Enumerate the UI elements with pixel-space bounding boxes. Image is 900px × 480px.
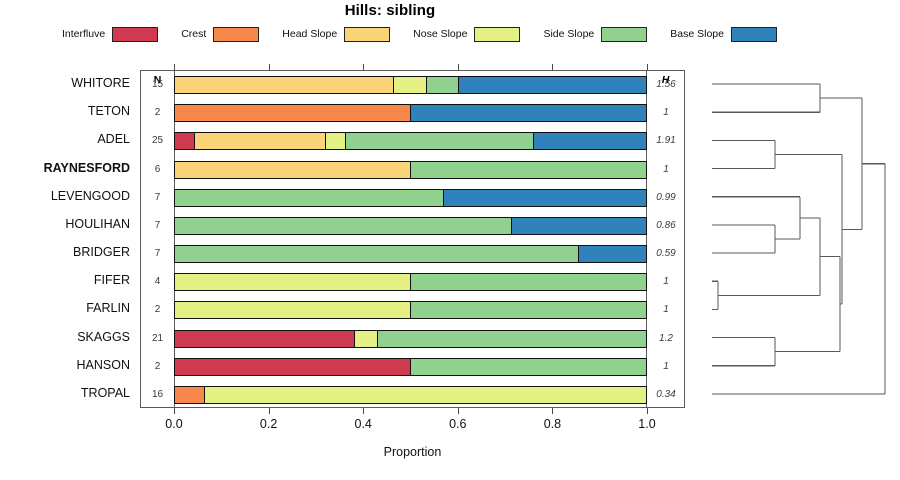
legend-swatch bbox=[344, 27, 390, 42]
x-axis-tick-label: 0.4 bbox=[354, 417, 371, 431]
stacked-bar[interactable] bbox=[174, 104, 647, 122]
h-value: 1 bbox=[648, 304, 684, 315]
bar-rows: 151.5621251.916170.9970.8670.594121211.2… bbox=[141, 71, 684, 407]
bar-row[interactable]: 61 bbox=[141, 156, 684, 184]
x-axis-tick-label: 0.0 bbox=[165, 417, 182, 431]
stacked-bar[interactable] bbox=[174, 189, 647, 207]
y-axis-label-houlihan: HOULIHAN bbox=[0, 218, 130, 230]
h-value: 1.56 bbox=[648, 79, 684, 90]
y-axis-label-bridger: BRIDGER bbox=[0, 246, 130, 258]
h-value: 0.34 bbox=[648, 389, 684, 400]
dendrogram bbox=[690, 68, 900, 410]
n-value: 7 bbox=[141, 220, 174, 231]
bar-row[interactable]: 21 bbox=[141, 99, 684, 127]
legend-item-head-slope[interactable]: Head Slope bbox=[282, 27, 413, 42]
legend-item-interfluve[interactable]: Interfluve bbox=[62, 27, 181, 42]
dendrogram-branches bbox=[712, 84, 885, 394]
n-value: 16 bbox=[141, 389, 174, 400]
x-axis-tick-label: 1.0 bbox=[638, 417, 655, 431]
h-value: 0.59 bbox=[648, 248, 684, 259]
bar-row[interactable]: 41 bbox=[141, 268, 684, 296]
stacked-bar[interactable] bbox=[174, 161, 647, 179]
y-axis-labels: WHITORETETONADELRAYNESFORDLEVENGOODHOULI… bbox=[0, 70, 136, 408]
bar-segment-interfluve[interactable] bbox=[175, 331, 355, 347]
chart-root: Hills: sibling InterfluveCrestHead Slope… bbox=[0, 0, 900, 480]
bar-row[interactable]: 70.99 bbox=[141, 184, 684, 212]
n-value: 7 bbox=[141, 192, 174, 203]
stacked-bar[interactable] bbox=[174, 76, 647, 94]
n-value: 4 bbox=[141, 276, 174, 287]
legend-label: Crest bbox=[181, 28, 206, 40]
chart-title: Hills: sibling bbox=[0, 2, 780, 19]
bar-segment-head-slope[interactable] bbox=[175, 77, 394, 93]
x-axis-tick-label: 0.6 bbox=[449, 417, 466, 431]
x-axis-tick bbox=[174, 408, 175, 414]
y-axis-label-teton: TETON bbox=[0, 105, 130, 117]
bar-segment-base-slope[interactable] bbox=[411, 105, 646, 121]
bar-segment-side-slope[interactable] bbox=[346, 133, 534, 149]
legend-swatch bbox=[112, 27, 158, 42]
bar-row[interactable]: 70.86 bbox=[141, 212, 684, 240]
bar-segment-head-slope[interactable] bbox=[175, 162, 411, 178]
bar-segment-crest[interactable] bbox=[175, 387, 205, 403]
x-axis-tick bbox=[363, 408, 364, 414]
legend-item-nose-slope[interactable]: Nose Slope bbox=[413, 27, 543, 42]
bar-segment-nose-slope[interactable] bbox=[175, 274, 411, 290]
bar-segment-interfluve[interactable] bbox=[175, 133, 195, 149]
legend-swatch bbox=[213, 27, 259, 42]
n-value: 25 bbox=[141, 135, 174, 146]
y-axis-label-hanson: HANSON bbox=[0, 359, 130, 371]
x-axis-tick bbox=[552, 408, 553, 414]
bar-segment-interfluve[interactable] bbox=[175, 359, 411, 375]
bar-row[interactable]: 21 bbox=[141, 296, 684, 324]
y-axis-label-tropal: TROPAL bbox=[0, 387, 130, 399]
n-value: 2 bbox=[141, 107, 174, 118]
legend: InterfluveCrestHead SlopeNose SlopeSide … bbox=[62, 24, 772, 44]
x-axis-title: Proportion bbox=[140, 445, 685, 459]
stacked-bar[interactable] bbox=[174, 273, 647, 291]
y-axis-label-skaggs: SKAGGS bbox=[0, 331, 130, 343]
x-axis-tick-label: 0.2 bbox=[260, 417, 277, 431]
legend-label: Head Slope bbox=[282, 28, 337, 40]
y-axis-label-fifer: FIFER bbox=[0, 274, 130, 286]
x-axis: 0.00.20.40.60.81.0 bbox=[140, 408, 685, 409]
x-axis-tick bbox=[647, 408, 648, 414]
bar-segment-base-slope[interactable] bbox=[459, 77, 646, 93]
bar-segment-side-slope[interactable] bbox=[411, 162, 646, 178]
h-value: 0.86 bbox=[648, 220, 684, 231]
y-axis-label-whitore: WHITORE bbox=[0, 77, 130, 89]
bar-segment-nose-slope[interactable] bbox=[394, 77, 426, 93]
bar-segment-side-slope[interactable] bbox=[175, 190, 444, 206]
legend-item-crest[interactable]: Crest bbox=[181, 27, 282, 42]
bar-segment-side-slope[interactable] bbox=[411, 302, 646, 318]
plot-area: N H 151.5621251.916170.9970.8670.5941212… bbox=[140, 70, 685, 408]
bar-segment-base-slope[interactable] bbox=[534, 133, 646, 149]
legend-label: Nose Slope bbox=[413, 28, 467, 40]
bar-segment-head-slope[interactable] bbox=[195, 133, 327, 149]
h-value: 1 bbox=[648, 361, 684, 372]
bar-row[interactable]: 251.91 bbox=[141, 127, 684, 155]
legend-label: Side Slope bbox=[543, 28, 594, 40]
y-axis-label-raynesford: RAYNESFORD bbox=[0, 162, 130, 174]
bar-row[interactable]: 70.59 bbox=[141, 240, 684, 268]
bar-segment-crest[interactable] bbox=[175, 105, 411, 121]
bar-row[interactable]: 211.2 bbox=[141, 325, 684, 353]
legend-label: Base Slope bbox=[670, 28, 724, 40]
bar-segment-base-slope[interactable] bbox=[579, 246, 646, 262]
bar-segment-side-slope[interactable] bbox=[411, 359, 646, 375]
bar-segment-nose-slope[interactable] bbox=[326, 133, 346, 149]
h-value: 1 bbox=[648, 164, 684, 175]
stacked-bar[interactable] bbox=[174, 132, 647, 150]
stacked-bar[interactable] bbox=[174, 245, 647, 263]
n-value: 6 bbox=[141, 164, 174, 175]
bar-row[interactable]: 160.34 bbox=[141, 381, 684, 409]
h-value: 1 bbox=[648, 107, 684, 118]
stacked-bar[interactable] bbox=[174, 330, 647, 348]
n-value: 21 bbox=[141, 333, 174, 344]
bar-row[interactable]: 151.56 bbox=[141, 71, 684, 99]
legend-swatch bbox=[474, 27, 520, 42]
bar-row[interactable]: 21 bbox=[141, 353, 684, 381]
stacked-bar[interactable] bbox=[174, 217, 647, 235]
legend-label: Interfluve bbox=[62, 28, 105, 40]
legend-swatch bbox=[731, 27, 777, 42]
bar-segment-side-slope[interactable] bbox=[175, 246, 579, 262]
n-value: 7 bbox=[141, 248, 174, 259]
legend-swatch bbox=[601, 27, 647, 42]
x-axis-tick bbox=[458, 408, 459, 414]
bar-segment-nose-slope[interactable] bbox=[205, 387, 646, 403]
bar-segment-side-slope[interactable] bbox=[411, 274, 646, 290]
bar-segment-base-slope[interactable] bbox=[512, 218, 646, 234]
bar-segment-side-slope[interactable] bbox=[427, 77, 459, 93]
bar-segment-nose-slope[interactable] bbox=[175, 302, 411, 318]
legend-item-base-slope[interactable]: Base Slope bbox=[670, 27, 800, 42]
n-value: 15 bbox=[141, 79, 174, 90]
h-value: 1 bbox=[648, 276, 684, 287]
y-axis-label-adel: ADEL bbox=[0, 133, 130, 145]
y-axis-label-levengood: LEVENGOOD bbox=[0, 190, 130, 202]
x-axis-tick bbox=[269, 408, 270, 414]
bar-segment-side-slope[interactable] bbox=[378, 331, 646, 347]
bar-segment-base-slope[interactable] bbox=[444, 190, 646, 206]
bar-segment-side-slope[interactable] bbox=[175, 218, 512, 234]
y-axis-label-farlin: FARLIN bbox=[0, 302, 130, 314]
bar-segment-nose-slope[interactable] bbox=[355, 331, 379, 347]
h-value: 1.91 bbox=[648, 135, 684, 146]
n-value: 2 bbox=[141, 304, 174, 315]
stacked-bar[interactable] bbox=[174, 301, 647, 319]
x-axis-tick-label: 0.8 bbox=[544, 417, 561, 431]
stacked-bar[interactable] bbox=[174, 358, 647, 376]
stacked-bar[interactable] bbox=[174, 386, 647, 404]
n-value: 2 bbox=[141, 361, 174, 372]
legend-item-side-slope[interactable]: Side Slope bbox=[543, 27, 670, 42]
dendrogram-svg bbox=[690, 68, 900, 410]
h-value: 1.2 bbox=[648, 333, 684, 344]
h-value: 0.99 bbox=[648, 192, 684, 203]
